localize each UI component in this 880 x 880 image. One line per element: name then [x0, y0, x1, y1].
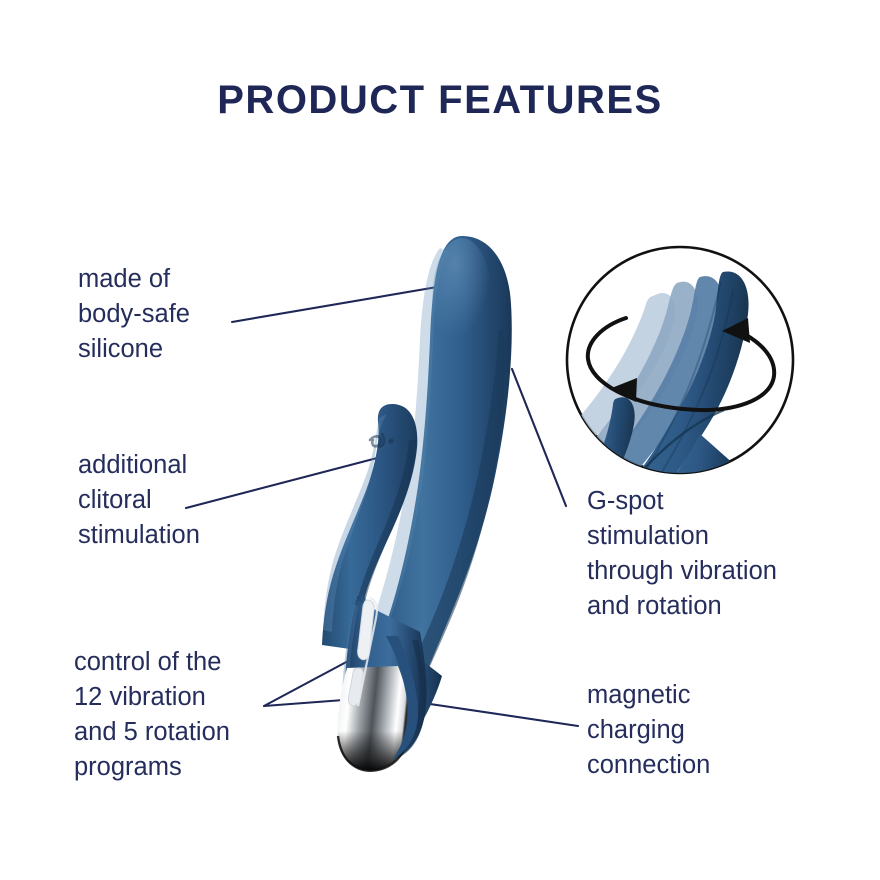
callout-control-of-vibration-and-rotation-programs: control of the 12 vibration and 5 rotati… [74, 645, 230, 785]
callout-additional-clitoral-stimulation: additional clitoral stimulation [78, 448, 200, 553]
leader-line-gspot [512, 369, 566, 506]
leader-line-silicone [232, 286, 443, 322]
callout-g-spot-stimulation: G-spot stimulation through vibration and… [587, 484, 777, 624]
callout-made-of-body-safe-silicone: made of body-safe silicone [78, 262, 190, 367]
product-illustration [322, 236, 512, 771]
leader-line-clitoral [186, 457, 381, 508]
callout-magnetic-charging-connection: magnetic charging connection [587, 678, 710, 783]
product-features-infographic: PRODUCT FEATURES [0, 0, 880, 880]
